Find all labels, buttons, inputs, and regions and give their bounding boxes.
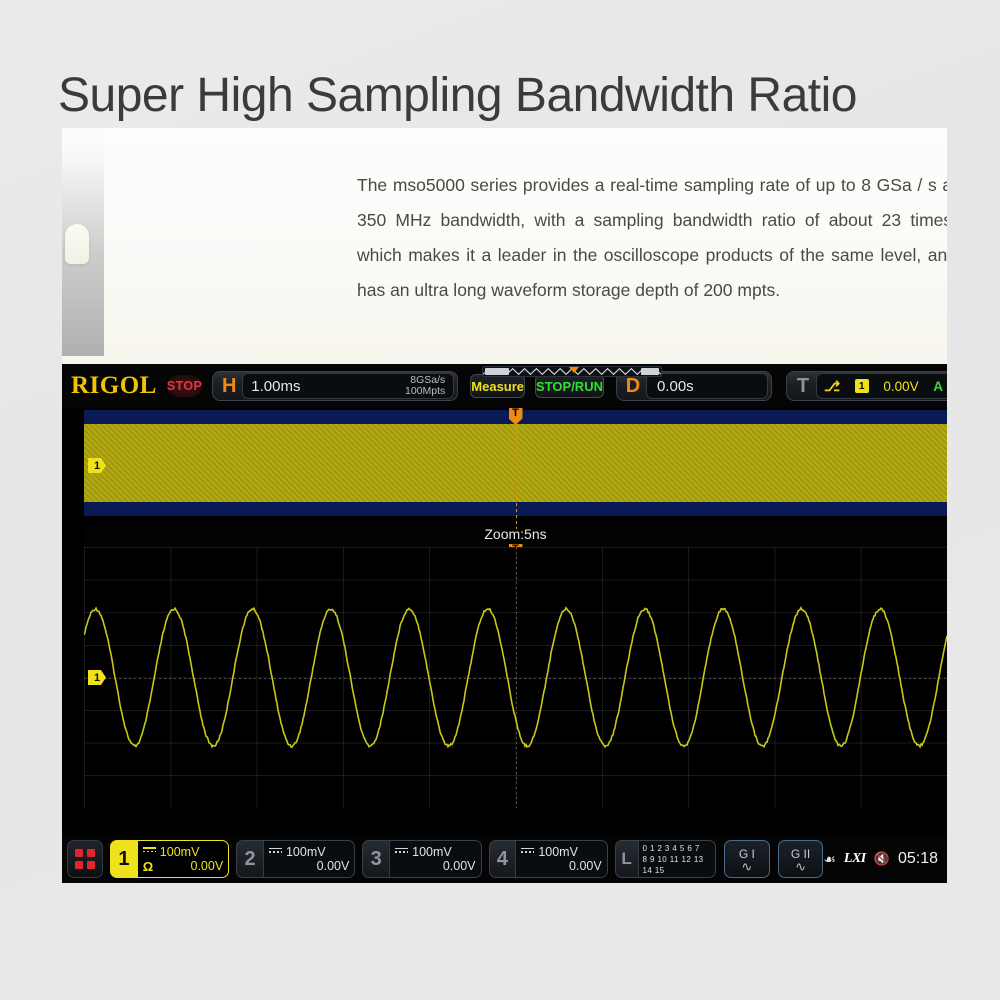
horizontal-settings-panel[interactable]: H 1.00ms 8GSa/s 100Mpts (212, 371, 458, 401)
rising-edge-icon: ⎇ (824, 378, 840, 395)
channel-scale: 100mV (286, 845, 326, 859)
channel-scale: 100mV (160, 845, 200, 859)
channel-button-4[interactable]: 4 100mV 0.00V (489, 840, 608, 878)
horizontal-tag-icon: H (216, 372, 242, 400)
channel-button-1[interactable]: 1 100mV Ω 0.00V (110, 840, 229, 878)
zoom-timebase-label: Zoom:5ns (84, 526, 947, 542)
logic-digits-row1: 0 1 2 3 4 5 6 7 (643, 843, 711, 854)
horizontal-values: 1.00ms 8GSa/s 100Mpts (242, 373, 454, 399)
channel-scale: 100mV (412, 845, 452, 859)
memory-depth-value: 100Mpts (405, 386, 445, 398)
sine-wave-icon: ∿ (741, 861, 752, 872)
zoom-region-connector (516, 425, 517, 529)
grid-dot (87, 861, 95, 869)
sine-wave-icon: ∿ (795, 861, 806, 872)
channel-offset-row: Ω 0.00V (143, 859, 223, 874)
scope-bottom-bar: 1 100mV Ω 0.00V 2 (62, 835, 947, 883)
channel-offset: 0.00V (317, 859, 350, 873)
trigger-mode-value: A (933, 379, 943, 394)
channel-offset-row: 0.00V (269, 859, 349, 873)
grid-dot (75, 861, 83, 869)
generator-button-2[interactable]: G II ∿ (778, 840, 824, 878)
overview-right-highlight (641, 368, 659, 375)
channel-offset: 0.00V (191, 859, 224, 873)
waveform-overview-strip[interactable] (482, 366, 662, 377)
channel1-waveform-trace (84, 547, 947, 808)
sample-rate-block: 8GSa/s 100Mpts (405, 375, 445, 398)
run-state-badge[interactable]: STOP (167, 375, 202, 397)
channel-values: 100mV Ω 0.00V (137, 841, 228, 877)
stop-run-button[interactable]: STOP/RUN (535, 374, 604, 398)
channel-scale-row: 100mV (395, 845, 475, 859)
logic-digits-row2: 8 9 10 11 12 13 14 15 (643, 854, 711, 876)
channel-number: 1 (111, 841, 137, 877)
page-title: Super High Sampling Bandwidth Ratio (58, 68, 958, 123)
dc-coupling-icon (395, 848, 408, 857)
trigger-source-badge: 1 (855, 379, 869, 393)
impedance-icon: Ω (143, 859, 153, 874)
channel-button-2[interactable]: 2 100mV 0.00V (236, 840, 355, 878)
trigger-level-value: 0.00V (883, 379, 918, 394)
channel-offset-row: 0.00V (395, 859, 475, 873)
overview-trigger-marker-icon (569, 367, 579, 373)
zoom-timebase-panel: 1 (84, 547, 947, 808)
delay-value: 0.00s (657, 378, 694, 395)
channel-values: 100mV 0.00V (389, 841, 480, 877)
trigger-settings-panel[interactable]: T ⎇ 1 0.00V A (786, 371, 947, 401)
usb-icon: ☙ (823, 851, 836, 868)
overview-left-highlight (485, 368, 509, 375)
dc-coupling-icon (269, 848, 282, 857)
clock-time: 05:18 (898, 850, 938, 868)
logic-digit-map: 0 1 2 3 4 5 6 7 8 9 10 11 12 13 14 15 (638, 841, 715, 877)
description-paragraph: The mso5000 series provides a real-time … (357, 168, 947, 308)
dc-coupling-icon (521, 848, 534, 857)
logic-channel-button[interactable]: L 0 1 2 3 4 5 6 7 8 9 10 11 12 13 14 15 (615, 840, 716, 878)
trigger-tag-icon: T (790, 372, 816, 400)
channel-scale-row: 100mV (143, 845, 223, 859)
grid-dot (87, 849, 95, 857)
grid-menu-icon[interactable] (67, 840, 103, 878)
dc-coupling-icon (143, 847, 156, 856)
overview-strip-body (482, 366, 662, 377)
measure-button[interactable]: Measure (470, 374, 525, 398)
channel-scale-row: 100mV (269, 845, 349, 859)
rigol-logo: RIGOL (71, 372, 157, 400)
channel-offset: 0.00V (569, 859, 602, 873)
oscilloscope-photo: The mso5000 series provides a real-time … (62, 128, 947, 883)
oscilloscope-screen: RIGOL STOP H 1.00ms 8GSa/s 100Mpts Measu… (62, 364, 947, 883)
delay-value-box: 0.00s (646, 373, 768, 399)
page-root: Super High Sampling Bandwidth Ratio The … (0, 0, 1000, 1000)
lxi-label: LXI (844, 851, 866, 867)
channel-number: 3 (363, 841, 389, 877)
channel-scale: 100mV (538, 845, 578, 859)
generator-button-1[interactable]: G I ∿ (724, 840, 770, 878)
channel-values: 100mV 0.00V (263, 841, 354, 877)
channel-scale-row: 100mV (521, 845, 601, 859)
channel-number: 4 (490, 841, 516, 877)
logic-label: L (616, 841, 638, 877)
trigger-values: ⎇ 1 0.00V A (816, 373, 947, 399)
channel-number: 2 (237, 841, 263, 877)
grid-dot (75, 849, 83, 857)
channel-button-3[interactable]: 3 100mV 0.00V (362, 840, 481, 878)
mute-icon[interactable]: 🔇 (874, 851, 890, 867)
timebase-value: 1.00ms (251, 378, 300, 395)
status-tray: ☙ LXI 🔇 05:18 (823, 850, 938, 868)
waveform-area[interactable]: 1 T Zoom:5ns T 1 (84, 408, 947, 808)
bezel-knob (65, 224, 89, 264)
channel-offset: 0.00V (443, 859, 476, 873)
channel-values: 100mV 0.00V (515, 841, 606, 877)
channel-offset-row: 0.00V (521, 859, 601, 873)
